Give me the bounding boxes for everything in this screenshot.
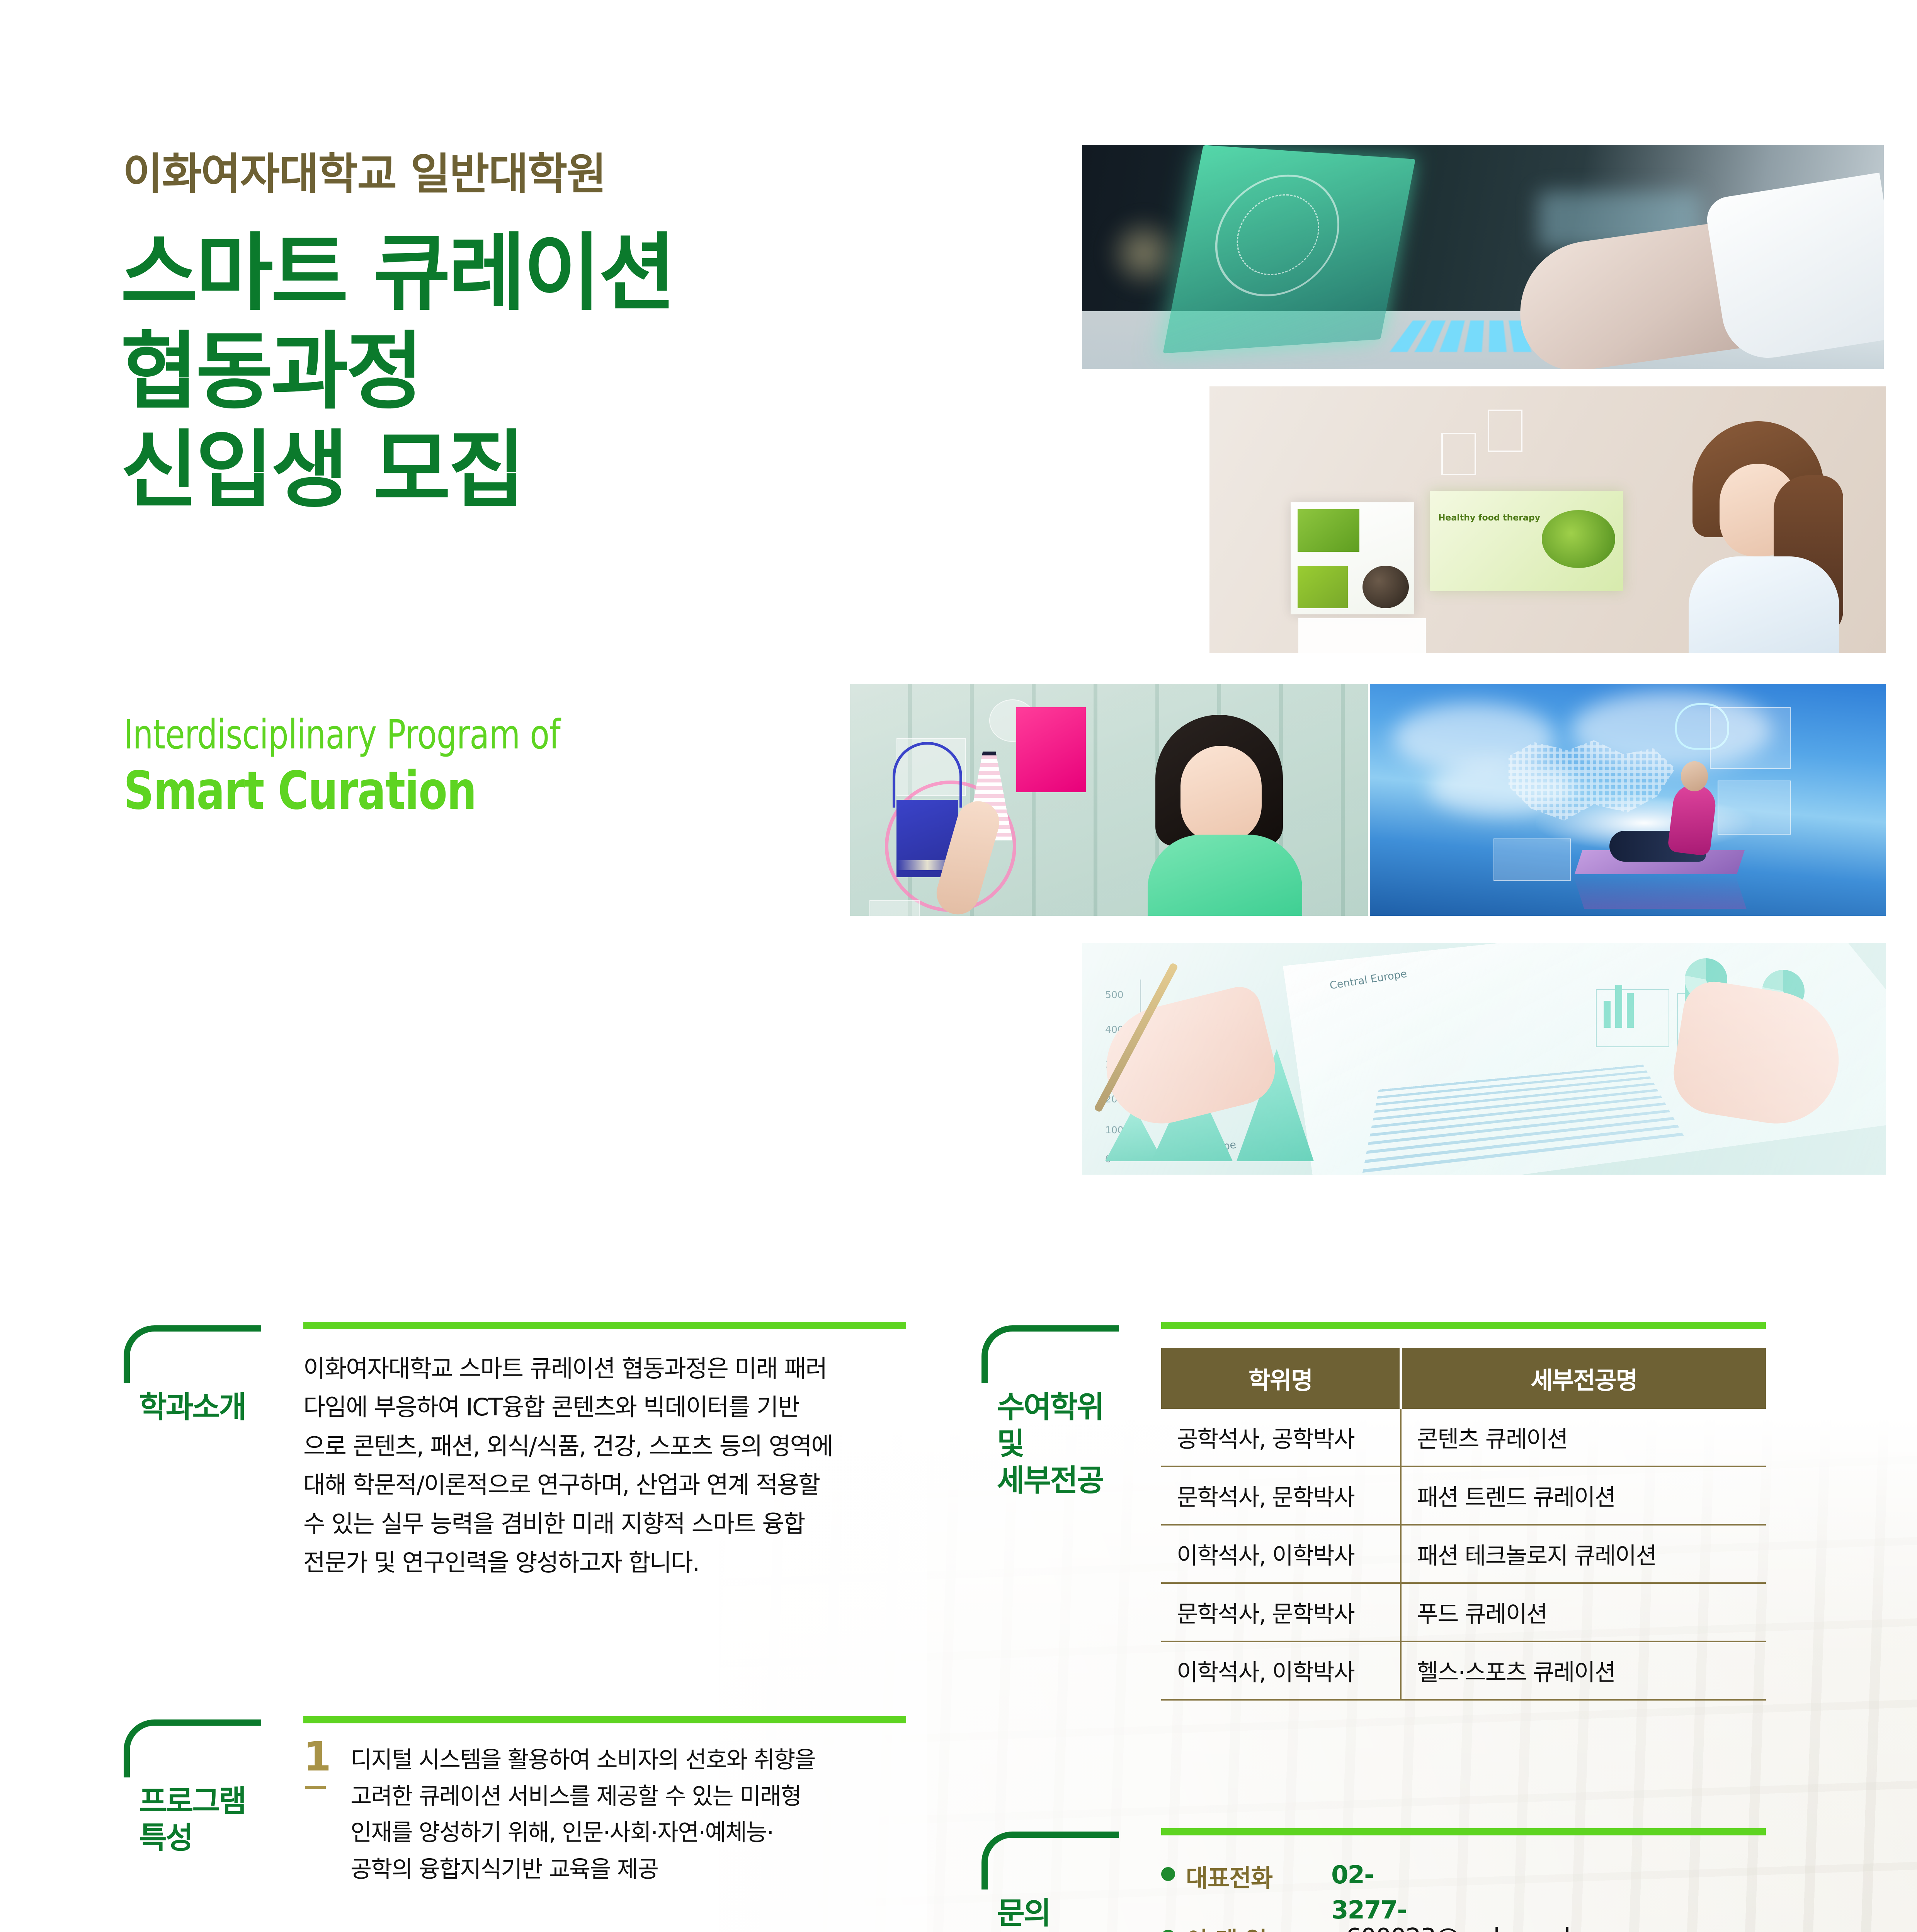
- section-title-program: 프로그램 특성: [139, 1783, 245, 1857]
- food-icon: [1488, 410, 1522, 452]
- contact-label: 대표전화: [1186, 1859, 1272, 1893]
- corner-bracket: [124, 1325, 255, 1383]
- section-title-degrees: 수여학위 및 세부전공: [997, 1389, 1103, 1499]
- english-program-name: Smart Curation: [124, 760, 476, 821]
- degree-table: 학위명 세부전공명 공학석사, 공학박사콘텐츠 큐레이션 문학석사, 문학박사패…: [1161, 1348, 1766, 1701]
- food-thumbnail-strip: [1298, 618, 1426, 653]
- table-row: 공학석사, 공학박사콘텐츠 큐레이션: [1161, 1409, 1766, 1466]
- section-rule: [1161, 1322, 1766, 1329]
- food-panel: [1291, 502, 1414, 614]
- bag-strap: [893, 742, 962, 808]
- table-row: 문학석사, 문학박사패션 트렌드 큐레이션: [1161, 1466, 1766, 1525]
- contact-label: 이 메 일: [1186, 1921, 1267, 1932]
- hologram-keyboard-photo: [1082, 145, 1884, 369]
- yoga-figure: [1609, 777, 1725, 862]
- poster-page: 이화여자대학교 일반대학원 스마트 큐레이션 협동과정 신입생 모집 Inter…: [0, 0, 1917, 1932]
- column-header-major: 세부전공명: [1401, 1348, 1766, 1409]
- column-header-degree: 학위명: [1161, 1348, 1401, 1409]
- wellness-yoga-photo: [1370, 684, 1886, 916]
- email-address[interactable]: e600023@ewha.ac.kr: [1331, 1920, 1587, 1932]
- food-curation-photo: Healthy food therapy: [1209, 386, 1886, 653]
- bullet-icon: [1161, 1930, 1175, 1932]
- item-text: 디지털 시스템을 활용하여 소비자의 선호와 취향을 고려한 큐레이션 서비스를…: [350, 1742, 907, 1888]
- holographic-screen: [1163, 145, 1415, 353]
- page-title: 스마트 큐레이션 협동과정 신입생 모집: [121, 224, 674, 520]
- healthy-food-panel: Healthy food therapy: [1430, 491, 1623, 591]
- corner-bracket: [124, 1719, 255, 1777]
- university-kicker: 이화여자대학교 일반대학원: [123, 139, 606, 202]
- info-card: [869, 900, 920, 916]
- shirt-sleeve: [1704, 173, 1884, 365]
- data-analytics-photo: 500 400 300 200 100 0 Central Europe Wes…: [1082, 943, 1886, 1175]
- bullet-icon: [1161, 1867, 1175, 1881]
- section-rule: [303, 1322, 906, 1329]
- corner-bracket: [981, 1832, 1113, 1889]
- section-title-intro: 학과소개: [139, 1389, 245, 1426]
- table-row: 문학석사, 문학박사푸드 큐레이션: [1161, 1583, 1766, 1641]
- pink-garment: [1016, 707, 1086, 792]
- woman-figure: [1677, 421, 1839, 653]
- corner-bracket: [981, 1325, 1113, 1383]
- water-reflection: [1573, 874, 1746, 909]
- food-icon: [1441, 433, 1476, 475]
- fashion-curation-photo: [850, 684, 1368, 916]
- bokeh-light: [1105, 214, 1182, 292]
- table-header-row: 학위명 세부전공명: [1161, 1348, 1766, 1409]
- table-row: 이학석사, 이학박사헬스·스포츠 큐레이션: [1161, 1641, 1766, 1700]
- woman-figure: [1144, 715, 1306, 916]
- data-panel: [1710, 707, 1791, 769]
- english-subtitle: Interdisciplinary Program of: [124, 711, 560, 758]
- table-row: 이학석사, 이학박사패션 테크놀로지 큐레이션: [1161, 1525, 1766, 1583]
- section-rule: [1161, 1828, 1766, 1835]
- intro-body-text: 이화여자대학교 스마트 큐레이션 협동과정은 미래 패러 다임에 부응하여 IC…: [303, 1349, 914, 1582]
- item-number: 1: [303, 1736, 331, 1777]
- section-rule: [303, 1716, 906, 1723]
- section-title-contact: 문의: [997, 1895, 1050, 1932]
